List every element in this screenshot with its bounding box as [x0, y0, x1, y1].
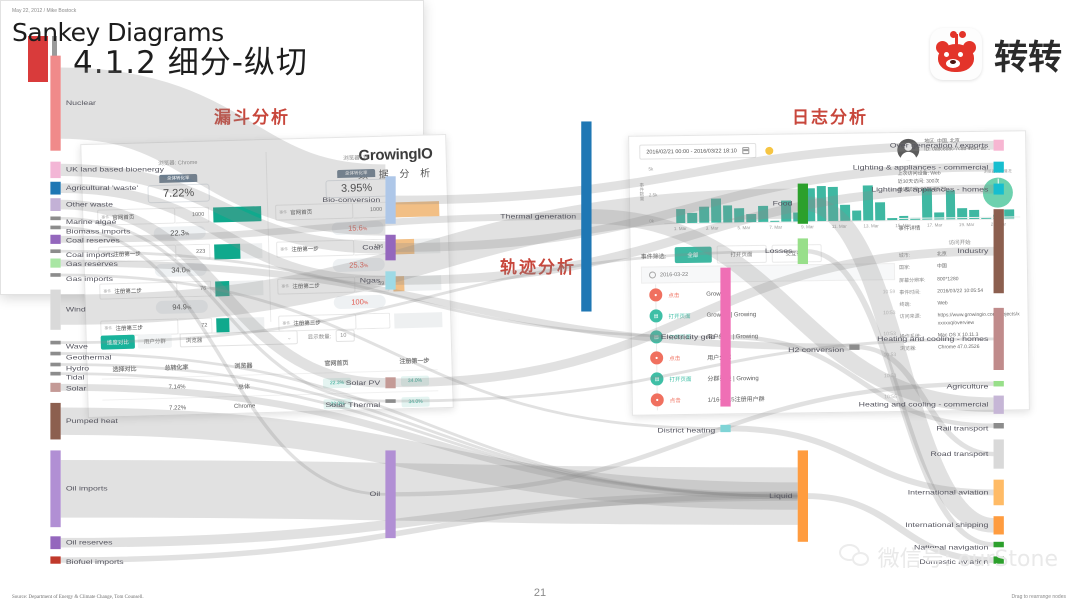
sankey-link: [393, 145, 424, 200]
page-number: 21: [0, 587, 1080, 599]
sankey-node-label: Ngas: [360, 277, 381, 284]
sankey-node-label: Gas reserves: [66, 260, 118, 267]
sankey-svg[interactable]: NuclearUK land based bioenergyAgricultur…: [4, 52, 424, 295]
sankey-node-label: Marine algae: [66, 218, 117, 225]
sankey-node-label: Other waste: [66, 201, 113, 208]
sankey-node-left[interactable]: [50, 182, 60, 195]
sankey-node-label: Gas imports: [66, 275, 113, 282]
sankey-node-mid[interactable]: [385, 176, 395, 224]
wechat-watermark: 微信号: ourStone: [839, 541, 1058, 573]
sankey-title: Sankey Diagrams: [12, 18, 224, 47]
sankey-node-left[interactable]: [50, 226, 60, 230]
sankey-node-label: UK land based bioenergy: [66, 166, 164, 173]
sankey-canvas[interactable]: NuclearUK land based bioenergyAgricultur…: [4, 52, 424, 295]
sankey-node-label: Coal reserves: [66, 237, 120, 244]
sankey-node-left[interactable]: [50, 56, 60, 151]
sankey-node-left[interactable]: [50, 198, 60, 211]
sankey-node-left[interactable]: [50, 235, 60, 244]
wechat-icon: [839, 544, 869, 570]
sankey-node-label: Biomass imports: [66, 228, 131, 235]
sankey-node-left[interactable]: [50, 162, 60, 178]
sankey-node-left[interactable]: [50, 259, 60, 268]
sankey-node-left[interactable]: [50, 216, 60, 220]
sankey-diagram-screenshot: May 22, 2012 / Mike Bostock Sankey Diagr…: [0, 0, 424, 295]
sankey-node-left[interactable]: [50, 290, 60, 295]
sankey-node-label: Agricultural 'waste': [66, 184, 139, 191]
sankey-node-mid[interactable]: [385, 271, 395, 289]
sankey-node-mid[interactable]: [385, 235, 395, 261]
sankey-node-label: Bio-conversion: [322, 196, 380, 203]
sankey-node-left[interactable]: [50, 273, 60, 277]
wechat-id-text: 微信号: ourStone: [878, 541, 1058, 573]
sankey-link: [393, 167, 424, 247]
sankey-node-label: Coal: [362, 244, 380, 251]
sankey-byline: May 22, 2012 / Mike Bostock: [12, 8, 76, 14]
sankey-node-label: Nuclear: [66, 99, 97, 106]
sankey-node-label: Coal imports: [66, 251, 115, 258]
sankey-node-left[interactable]: [50, 249, 60, 253]
